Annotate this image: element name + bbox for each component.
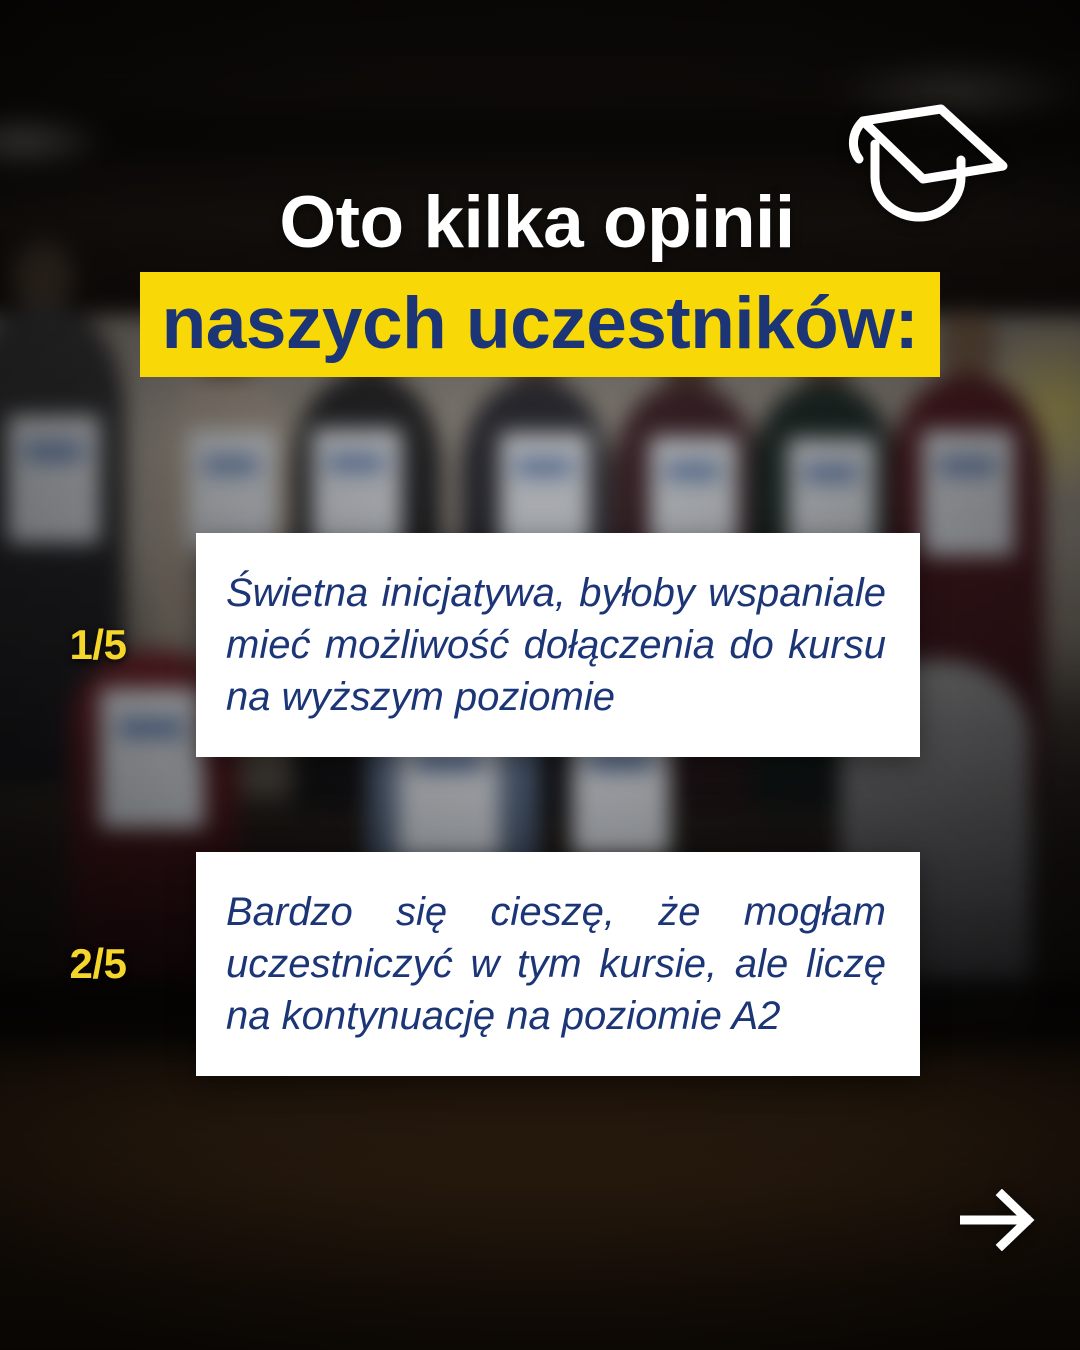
testimonial-row: 2/5 Bardzo się cieszę, że mogłam uczestn… [0,852,920,1076]
next-slide-arrow-icon[interactable] [960,1189,1038,1251]
testimonial-row: 1/5 Świetna inicjatywa, byłoby wspaniale… [0,533,920,757]
title-highlight-wrapper: naszych uczestników: [0,272,1080,377]
testimonial-counter: 1/5 [0,621,196,669]
social-post-slide: Oto kilka opinii naszych uczestników: 1/… [0,0,1080,1350]
testimonial-card: Bardzo się cieszę, że mogłam uczestniczy… [196,852,920,1076]
title-line-1: Oto kilka opinii [0,186,1080,259]
testimonial-text: Bardzo się cieszę, że mogłam uczestniczy… [226,886,886,1042]
content-layer: Oto kilka opinii naszych uczestników: 1/… [0,0,1080,1350]
testimonial-text: Świetna inicjatywa, byłoby wspaniale mie… [226,567,886,723]
page-title: Oto kilka opinii naszych uczestników: [0,186,1080,377]
testimonial-counter: 2/5 [0,940,196,988]
title-line-2-highlight: naszych uczestników: [140,272,941,377]
testimonial-card: Świetna inicjatywa, byłoby wspaniale mie… [196,533,920,757]
